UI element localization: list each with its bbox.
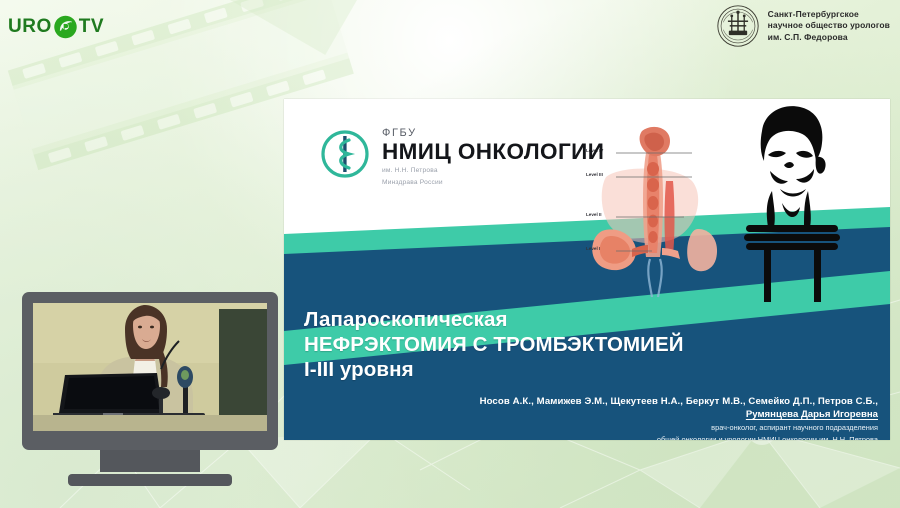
slide-title: Лапароскопическая НЕФРЭКТОМИЯ С ТРОМБЭКТ…	[304, 307, 684, 383]
society-ship-seal-icon	[716, 4, 760, 48]
monitor-stand-base	[68, 474, 232, 486]
institute-name: НМИЦ ОНКОЛОГИИ	[382, 139, 604, 164]
monitor-screen	[33, 303, 267, 431]
svg-text:Level I: Level I	[586, 246, 600, 251]
presenter-role-2: общей онкологии и урологии НМИЦ онкологи…	[408, 435, 878, 440]
slide-authors: Носов А.К., Мамижев Э.М., Щекутеев Н.А.,…	[408, 395, 878, 440]
title-line-3: I-III уровня	[304, 357, 684, 383]
institute-sub-1: им. Н.Н. Петрова	[382, 167, 604, 176]
presenter-role-1: врач-онколог, аспирант научного подразде…	[408, 423, 878, 433]
speaker-webcam-monitor[interactable]	[22, 292, 278, 488]
institute-sub-2: Минздрава России	[382, 179, 604, 188]
society-line-3: им. С.П. Федорова	[768, 32, 890, 44]
authors-list: Носов А.К., Мамижев Э.М., Щекутеев Н.А.,…	[408, 395, 878, 408]
society-line-1: Санкт-Петербургское	[768, 9, 890, 21]
broadcast-frame: URO TV	[0, 0, 900, 508]
presentation-slide[interactable]: Level IV Level III Level II Level I	[284, 99, 890, 440]
monitor-stand-neck	[100, 450, 200, 472]
institute-prefix: ФГБУ	[382, 127, 604, 139]
urotv-circle-leaf-icon	[53, 10, 78, 44]
urotv-logo-text-left: URO	[8, 16, 52, 38]
institute-logo: ФГБУ НМИЦ ОНКОЛОГИИ им. Н.Н. Петрова Мин…	[318, 125, 604, 187]
title-line-2: НЕФРЭКТОМИЯ С ТРОМБЭКТОМИЕЙ	[304, 332, 684, 357]
society-name-text: Санкт-Петербургское научное общество уро…	[768, 9, 890, 44]
society-line-2: научное общество урологов	[768, 20, 890, 32]
stylized-bust-statue-illustration	[724, 99, 854, 305]
svg-text:Level II: Level II	[586, 212, 602, 217]
society-branding: Санкт-Петербургское научное общество уро…	[716, 4, 890, 48]
urotv-channel-logo: URO TV	[8, 6, 104, 48]
presenter-name: Румянцева Дарья Игоревна	[408, 408, 878, 421]
speaker-at-podium-with-laptop-and-microphone	[33, 303, 267, 431]
urotv-logo-text-right: TV	[79, 16, 104, 38]
title-line-1: Лапароскопическая	[304, 307, 684, 332]
asclepius-rod-circle-icon	[318, 127, 372, 181]
